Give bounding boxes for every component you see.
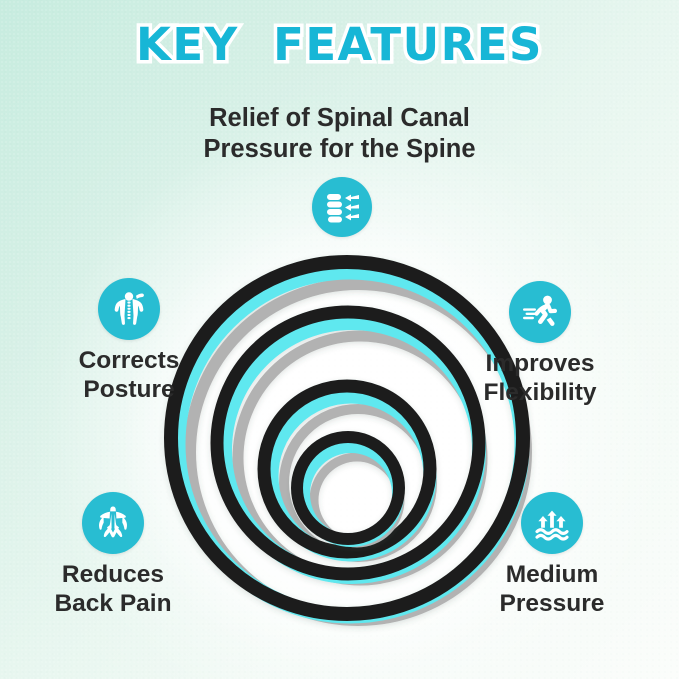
feature-label: Medium Pressure [437, 561, 667, 619]
feature-label: Reduces Back Pain [0, 561, 228, 619]
feature-label: Improves Flexibility [425, 350, 655, 408]
spine-arrows-icon [312, 177, 372, 237]
feature-reduces-back-pain: Reduces Back Pain [0, 492, 228, 619]
feature-medium-pressure: Medium Pressure [437, 492, 667, 619]
page-title: KEY FEATURES [0, 18, 679, 71]
infographic-poster: KEY FEATURES Relief of Spinal Canal Pres… [0, 0, 679, 679]
feature-improves-flexibility: Improves Flexibility [425, 281, 655, 408]
pressure-waves-icon [521, 492, 583, 554]
headline-text: Relief of Spinal Canal Pressure for the … [0, 103, 679, 165]
feature-corrects-posture: Corrects Posture [14, 278, 244, 405]
feature-spine-pressure [227, 177, 457, 237]
posture-back-icon [98, 278, 160, 340]
running-person-icon [509, 281, 571, 343]
back-muscles-icon [82, 492, 144, 554]
feature-label: Corrects Posture [14, 347, 244, 405]
